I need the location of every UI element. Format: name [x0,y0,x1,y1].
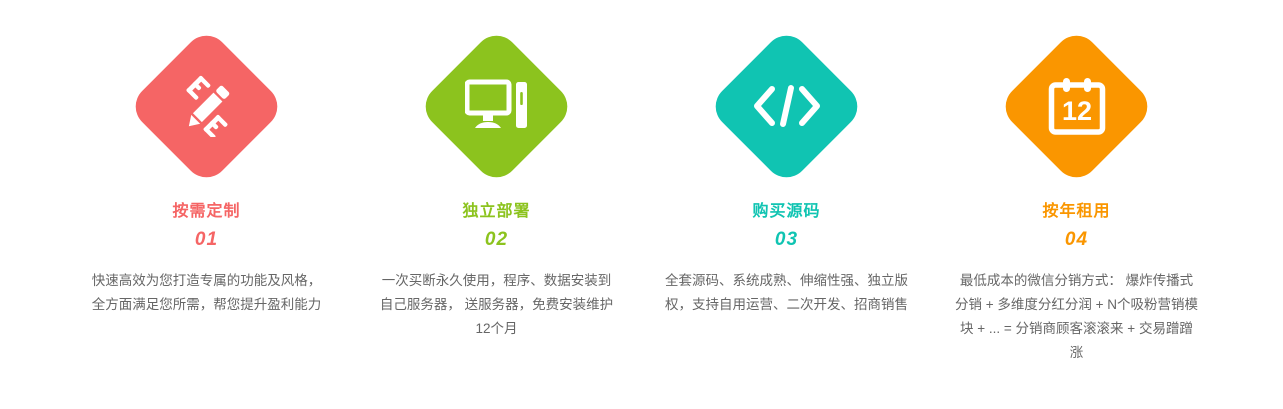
diamond-badge-rental[interactable]: 12 [997,26,1157,186]
card-description: 最低成本的微信分销方式： 爆炸传播式分销 + 多维度分红分润 + N个吸粉营销模… [954,269,1199,365]
card-number: 03 [775,229,798,251]
card-number: 02 [485,229,508,251]
feature-card-rental[interactable]: 12 按年租用 04 最低成本的微信分销方式： 爆炸传播式分销 + 多维度分红分… [932,26,1222,365]
card-title: 按年租用 [1042,202,1110,222]
calendar-day-label: 12 [1061,96,1091,126]
feature-card-source[interactable]: 购买源码 03 全套源码、系统成熟、伸缩性强、独立版权，支持自用运营、二次开发、… [642,26,932,317]
card-description: 快速高效为您打造专属的功能及风格， 全方面满足您所需，帮您提升盈利能力 [89,269,324,317]
feature-card-custom[interactable]: 按需定制 01 快速高效为您打造专属的功能及风格， 全方面满足您所需，帮您提升盈… [62,26,352,317]
card-title: 购买源码 [752,202,820,222]
diamond-badge-source[interactable] [707,26,867,186]
diamond-badge-deploy[interactable] [417,26,577,186]
card-number: 04 [1065,229,1088,251]
code-brackets-icon [752,71,822,141]
features-row: 按需定制 01 快速高效为您打造专属的功能及风格， 全方面满足您所需，帮您提升盈… [0,0,1283,409]
card-description: 全套源码、系统成熟、伸缩性强、独立版权，支持自用运营、二次开发、招商销售 [664,269,909,317]
desktop-computer-icon [462,71,532,141]
card-description: 一次买断永久使用，程序、数据安装到自己服务器， 送服务器，免费安装维护12个月 [379,269,614,341]
pencil-ruler-icon [172,71,242,141]
card-title: 独立部署 [462,202,530,222]
calendar-12-icon: 12 [1042,71,1112,141]
diamond-badge-custom[interactable] [127,26,287,186]
card-number: 01 [195,229,218,251]
feature-card-deploy[interactable]: 独立部署 02 一次买断永久使用，程序、数据安装到自己服务器， 送服务器，免费安… [352,26,642,341]
card-title: 按需定制 [172,202,240,222]
